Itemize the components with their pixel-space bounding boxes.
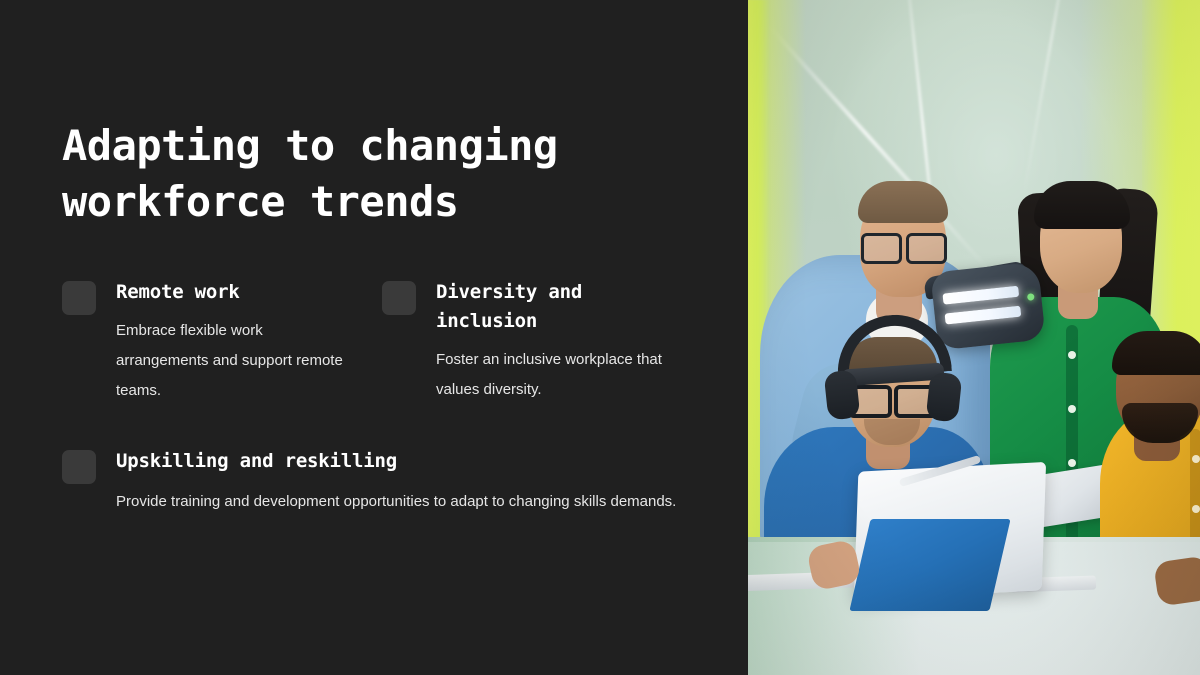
shirt-button: [1192, 505, 1200, 513]
page-title: Adapting to changing workforce trends: [62, 118, 682, 230]
bullet-marker-icon: [62, 450, 96, 484]
vr-headset-icon: [930, 262, 1046, 351]
vr-light-strip: [942, 286, 1019, 305]
person-man-hand: [1153, 555, 1200, 606]
headphones-earcup-icon: [824, 369, 861, 420]
bullet-marker-icon: [62, 281, 96, 315]
bullet-heading: Upskilling and reskilling: [116, 447, 692, 476]
bullet-heading: Remote work: [116, 278, 352, 307]
bullet-body: Provide training and development opportu…: [116, 487, 692, 517]
bullet-item-diversity-and-inclusion: Diversity and inclusion Foster an inclus…: [382, 278, 702, 407]
eyeglasses-icon: [848, 385, 938, 411]
shirt-button: [1192, 455, 1200, 463]
bullet-row-top: Remote work Embrace flexible work arrang…: [62, 278, 702, 407]
bullet-heading: Diversity and inclusion: [436, 278, 672, 336]
bullet-list: Remote work Embrace flexible work arrang…: [62, 278, 702, 517]
tablet-kickstand-cover: [849, 519, 1010, 611]
vr-status-led: [1027, 293, 1035, 301]
person-woman-hair-top: [1034, 181, 1130, 229]
vr-light-strip: [945, 306, 1022, 325]
bullet-marker-icon: [382, 281, 416, 315]
slide: Adapting to changing workforce trends Re…: [0, 0, 1200, 675]
bullet-item-remote-work: Remote work Embrace flexible work arrang…: [62, 278, 382, 407]
photo-pane: [748, 0, 1200, 675]
shirt-button: [1068, 351, 1076, 359]
bullet-body: Embrace flexible work arrangements and s…: [116, 316, 352, 407]
content-pane: Adapting to changing workforce trends Re…: [0, 0, 748, 675]
bullet-item-upskilling-and-reskilling: Upskilling and reskilling Provide traini…: [62, 447, 702, 517]
shirt-button: [1068, 405, 1076, 413]
shirt-button: [1068, 459, 1076, 467]
person-man-hair: [1112, 331, 1200, 375]
person-man-hair: [858, 181, 948, 223]
bullet-body: Foster an inclusive workplace that value…: [436, 345, 672, 406]
eyeglasses-icon: [860, 233, 948, 259]
